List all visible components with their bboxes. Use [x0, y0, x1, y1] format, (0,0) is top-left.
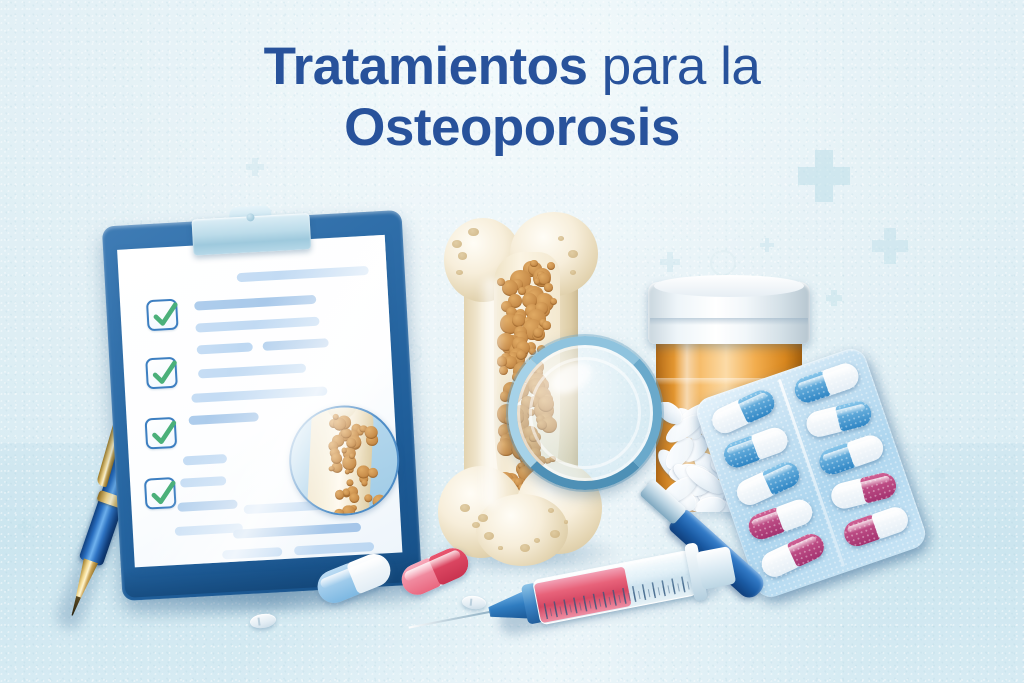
- bone-pore: [328, 466, 334, 472]
- checklist-text-line: [244, 498, 374, 514]
- bone-pore: [331, 461, 343, 473]
- blister-capsule-blue: [804, 398, 874, 439]
- blister-capsule-blue: [816, 432, 887, 478]
- bone-pore: [349, 453, 355, 459]
- bone-pore: [344, 469, 349, 474]
- checklist-text-line: [262, 338, 328, 351]
- checklist-text-line: [237, 266, 369, 282]
- bone-pore: [343, 446, 356, 459]
- checklist-text-line: [194, 295, 316, 311]
- check-icon: [149, 419, 181, 451]
- bone-pore: [357, 465, 370, 478]
- bone-pore: [337, 415, 352, 430]
- checklist-text-line: [294, 542, 374, 555]
- bone-surface-speck: [468, 228, 479, 236]
- bone-pore: [373, 505, 379, 511]
- bone-pore: [347, 486, 359, 498]
- bone-pore: [349, 493, 359, 503]
- checklist-checkbox-2[interactable]: [145, 357, 178, 390]
- capsule-half: [841, 514, 882, 550]
- blister-capsule-pink: [829, 470, 899, 511]
- bone-pore: [346, 479, 354, 487]
- bone-pore: [341, 428, 352, 439]
- cross-far-left-tiny: [18, 520, 31, 533]
- checklist-text-line: [222, 547, 282, 559]
- bone-pore: [368, 468, 374, 474]
- circle-outline-center: [710, 250, 736, 276]
- pill-bottle-cap-top: [654, 275, 804, 297]
- cross-center-small: [660, 252, 680, 272]
- capsule-half: [804, 406, 844, 440]
- checklist-text-line: [180, 476, 226, 488]
- capsule-half: [775, 496, 816, 532]
- capsule-shine: [822, 438, 877, 462]
- bone-surface-speck: [498, 546, 503, 550]
- bone-pore: [368, 435, 374, 441]
- bone-surface-speck: [452, 240, 462, 248]
- title-word-tratamientos: Tratamientos: [264, 37, 588, 96]
- bone-pore: [342, 489, 350, 497]
- capsule-half: [829, 478, 869, 512]
- bone-highlight: [478, 278, 504, 508]
- title-line-2: Osteoporosis: [0, 99, 1024, 156]
- bone-pore: [346, 435, 362, 451]
- bone-tissue-inset: [286, 403, 402, 519]
- bone-pore: [332, 435, 344, 447]
- blister-pack-seam: [777, 379, 844, 567]
- cross-upper-right-medium: [872, 228, 908, 264]
- bone-surface-speck: [558, 236, 564, 241]
- bone-pore: [329, 448, 339, 458]
- checklist-checkbox-3[interactable]: [145, 417, 178, 450]
- capsule-half: [871, 504, 912, 540]
- bone-pore: [328, 441, 338, 451]
- bone-pore: [347, 435, 362, 450]
- bone-pore: [335, 490, 345, 500]
- bone-pore: [550, 298, 557, 305]
- checklist-text-line: [183, 454, 227, 465]
- bone-pore: [348, 430, 359, 441]
- clipboard-paper: [117, 235, 402, 567]
- poster-canvas: Tratamientos para la Osteoporosis: [0, 0, 1024, 683]
- bone-pore: [359, 425, 367, 433]
- bone-pore: [332, 414, 339, 421]
- cross-mid-right-tiny: [760, 238, 774, 252]
- bone-pore: [366, 434, 378, 446]
- bone-pore: [342, 455, 357, 470]
- page-title: Tratamientos para la Osteoporosis: [0, 38, 1024, 156]
- capsule-half: [859, 470, 899, 504]
- bone-pore: [544, 283, 553, 292]
- bone-surface-speck: [456, 270, 463, 275]
- clipboard: [102, 210, 422, 601]
- blister-capsule-pink: [841, 504, 912, 550]
- syringe-plunger: [696, 546, 737, 590]
- bone-pore: [331, 452, 343, 464]
- bone-pore: [341, 448, 347, 454]
- capsule-half: [816, 442, 857, 478]
- bone-pore: [356, 428, 364, 436]
- bone-pore: [348, 462, 356, 470]
- capsule-half: [835, 398, 875, 432]
- capsule-shine: [835, 476, 890, 496]
- bone-pore: [347, 466, 354, 473]
- checklist-text-line: [233, 523, 361, 539]
- bone-pore: [351, 424, 361, 434]
- checklist-text-line: [197, 342, 253, 354]
- bone-surface-speck: [460, 504, 470, 512]
- inset-bone-shape: [306, 403, 375, 519]
- magnifier-lens: [508, 336, 662, 490]
- bone-pore: [359, 474, 369, 484]
- capsule-half: [786, 530, 828, 568]
- bone-pore: [346, 438, 356, 448]
- bone-pore: [338, 429, 350, 441]
- blister-capsule-blue: [791, 360, 862, 406]
- bone-pore: [364, 494, 372, 502]
- bone-pore: [342, 505, 355, 518]
- bone-pore: [368, 468, 378, 478]
- title-line-1: Tratamientos para la: [0, 38, 1024, 95]
- clipboard-clip: [191, 203, 311, 256]
- check-icon: [148, 479, 180, 511]
- capsule-shine: [810, 404, 865, 424]
- bone-surface-speck: [472, 522, 480, 528]
- check-icon: [150, 300, 182, 332]
- cross-left-upper-small: [246, 158, 264, 176]
- checklist-text-line: [191, 386, 327, 403]
- bone-surface-speck: [458, 252, 467, 260]
- title-words-para-la: para la: [588, 37, 761, 96]
- checklist-text-line: [188, 412, 258, 425]
- cross-top-right-large: [798, 150, 850, 202]
- capsule-shine: [847, 509, 902, 533]
- bone-pore: [530, 260, 538, 268]
- checklist-text-line: [198, 363, 306, 378]
- bone-surface-speck: [478, 514, 488, 522]
- checklist-checkbox-1[interactable]: [146, 299, 179, 332]
- inset-bone-pores: [288, 405, 394, 411]
- bone-pore: [334, 509, 344, 519]
- checklist-text-line: [175, 523, 243, 536]
- bone-pore: [350, 505, 357, 512]
- cross-right-small: [826, 290, 842, 306]
- bone-pore: [361, 479, 368, 486]
- checklist-text-line: [177, 500, 237, 512]
- cross-bottom-right-small: [930, 468, 945, 483]
- capsule-shine: [764, 536, 817, 566]
- bone-pore: [333, 417, 347, 431]
- bone-surface-speck: [570, 270, 576, 275]
- checklist-text-line: [195, 317, 319, 333]
- bone-pore: [372, 494, 387, 509]
- capsule-half: [791, 370, 832, 406]
- blister-capsule-pink: [757, 530, 828, 581]
- capsule-shine: [797, 366, 852, 390]
- capsule-half: [821, 360, 862, 396]
- pill-bottle-cap: [648, 282, 810, 344]
- capsule-half: [846, 432, 887, 468]
- bone-pore: [342, 488, 352, 498]
- bone-pore: [329, 418, 339, 428]
- bone-pore: [364, 426, 378, 440]
- checklist-checkbox-4[interactable]: [144, 477, 177, 510]
- check-icon: [149, 359, 181, 391]
- bone-pore: [542, 321, 550, 329]
